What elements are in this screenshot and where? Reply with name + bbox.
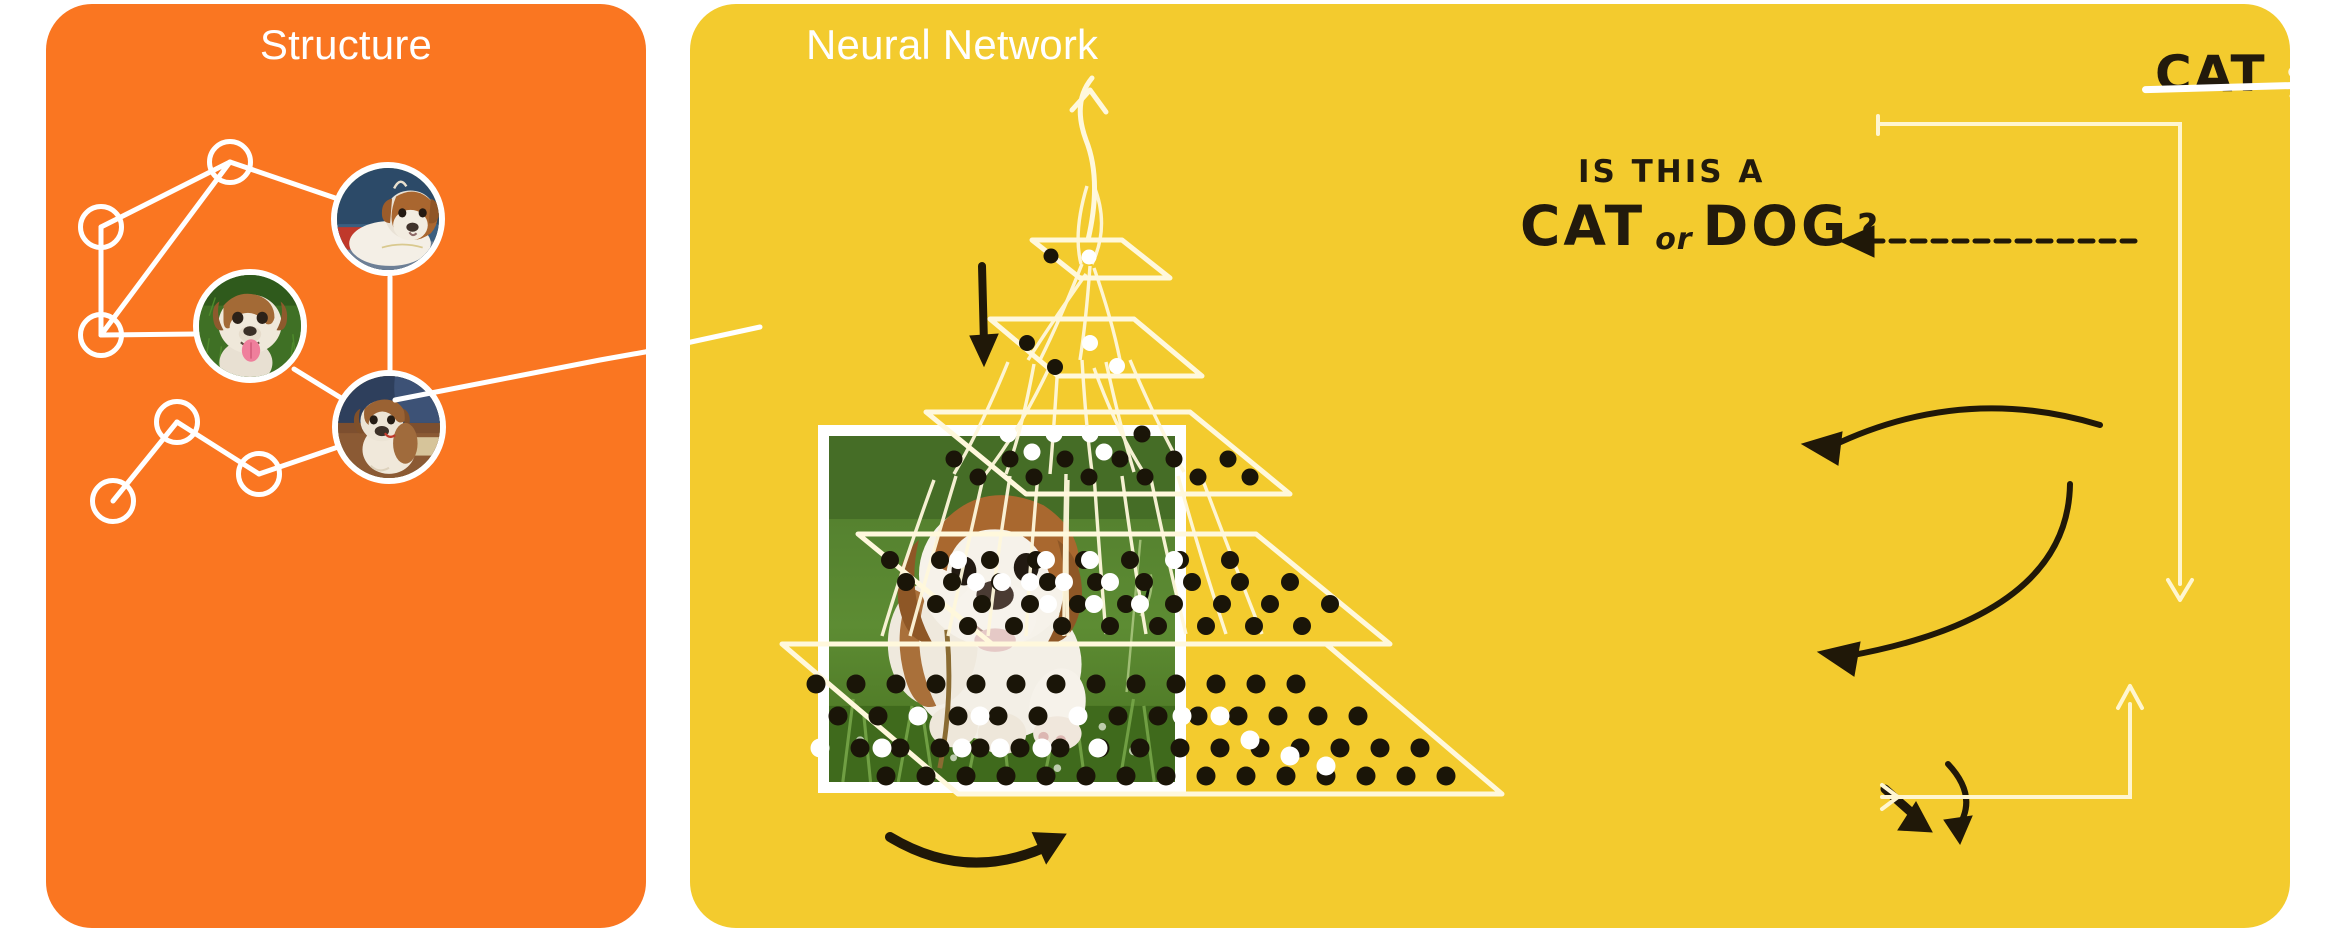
neuron-active	[1082, 335, 1098, 351]
graph-node-n6[interactable]	[90, 478, 136, 524]
neuron-inactive	[1019, 335, 1035, 351]
bulldog-on-grass-image	[199, 275, 301, 377]
arrow-activated-lower-shaft	[1848, 484, 2070, 656]
question-dog: DOG	[1703, 194, 1850, 258]
neuron-inactive	[1047, 359, 1063, 375]
neuron-inactive	[1242, 469, 1259, 486]
output-to-verdict-line	[1080, 78, 1094, 240]
neuron-inactive	[1220, 451, 1237, 468]
neural-network-panel-title: Neural Network	[806, 20, 1098, 70]
graph-node-n3[interactable]	[78, 312, 124, 358]
bulldog-lying-down-image	[337, 168, 439, 270]
graph-node-n4[interactable]	[154, 399, 200, 445]
neuron-active	[1082, 250, 1097, 265]
graph-node-n2[interactable]	[78, 204, 124, 250]
arrow-activated-lower-head	[1818, 642, 1860, 676]
question-cat: CAT	[1520, 194, 1645, 258]
input-photo	[829, 436, 1175, 782]
arrow-activated-upper-head	[1802, 432, 1842, 465]
bracket-top-path	[1878, 124, 2180, 584]
arrow-activated-upper-shaft	[1830, 408, 2100, 447]
structure-panel-title: Structure	[46, 20, 646, 70]
arrow-into-plane-head	[1898, 802, 1932, 832]
neurons-output-layer	[1044, 249, 1097, 265]
bracket-strokes	[1878, 116, 2192, 809]
input-photo-frame[interactable]	[818, 425, 1186, 793]
question-line-1: IS THIS A	[1578, 154, 1765, 192]
bulldog-puppy-walking-image	[829, 436, 1175, 782]
poster-canvas: Structure	[0, 0, 2330, 936]
graph-node-n5[interactable]	[236, 451, 282, 497]
question-or: or	[1645, 222, 1702, 257]
neuron-inactive	[1190, 469, 1207, 486]
neuron-inactive	[1044, 249, 1059, 264]
bulldog-puppy-sitting-image	[338, 376, 440, 478]
bracket-bottom-path	[1882, 704, 2130, 797]
bracket-arrow-up	[2118, 686, 2142, 708]
dog-photo-node-bottom[interactable]	[332, 370, 446, 484]
dog-photo-node-top[interactable]	[331, 162, 445, 276]
neurons-hidden-3	[1019, 335, 1125, 375]
arrow-input-shaft	[1948, 764, 1966, 830]
verdict-cat-word: CAT	[2155, 44, 2267, 105]
arrow-head	[970, 334, 998, 366]
neural-network-panel: Neural Network CAT DOG IS THIS A CATorDO…	[690, 4, 2290, 928]
arrow-into-plane-shaft	[1885, 789, 1922, 822]
plane-hidden-3	[990, 319, 1202, 376]
dog-photo-node-middle[interactable]	[193, 269, 307, 383]
curve-shaft	[890, 837, 1054, 863]
arrow-input-head	[1944, 816, 1972, 844]
arrow-shaft	[982, 266, 984, 344]
curve-head	[1032, 820, 1073, 863]
bracket-bottom-tick	[1882, 785, 1898, 809]
plane-output-layer	[1032, 240, 1170, 278]
structure-panel: Structure	[46, 4, 646, 928]
graph-node-n1[interactable]	[207, 139, 253, 185]
question-mark: ?	[1849, 207, 1880, 248]
question-line-2: CATorDOG?	[1508, 193, 1880, 260]
neuron-active	[1109, 358, 1125, 374]
output-to-verdict-arrowhead	[1072, 90, 1106, 112]
bracket-arrow-down	[2168, 580, 2192, 600]
